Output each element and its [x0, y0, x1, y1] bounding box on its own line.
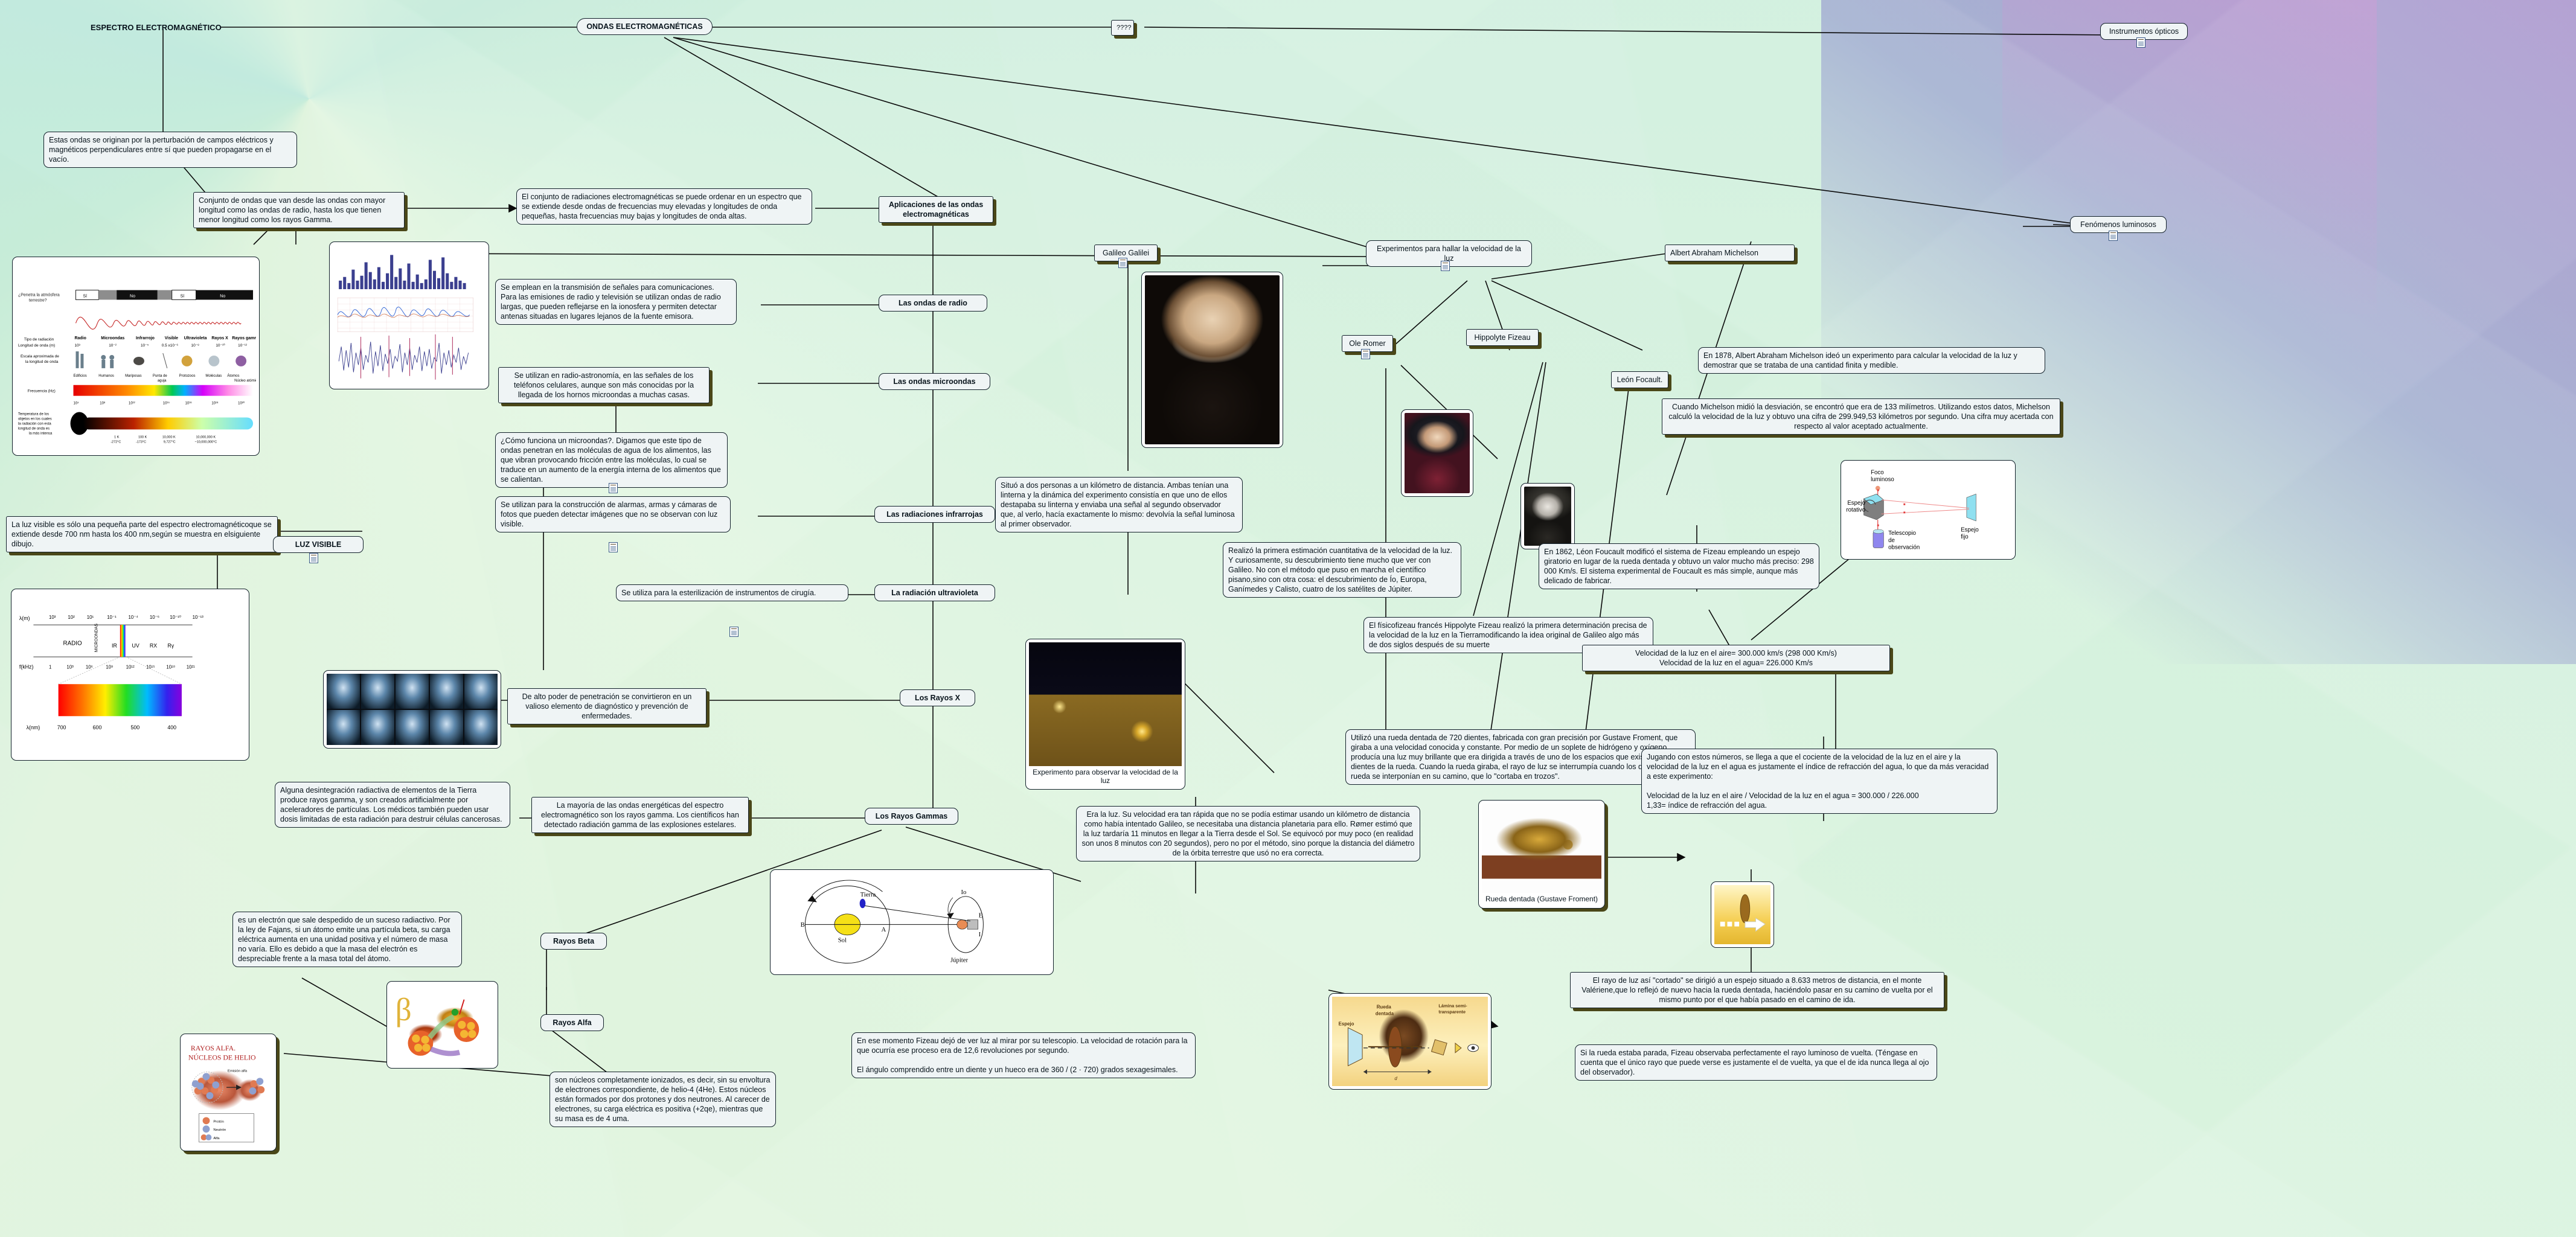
svg-text:transparente: transparente [1438, 1009, 1466, 1015]
node-ondas-radio[interactable]: Las ondas de radio [879, 295, 987, 312]
svg-text:600: 600 [93, 724, 102, 730]
svg-text:λ(m): λ(m) [19, 615, 30, 621]
svg-text:Júpiter: Júpiter [950, 956, 968, 964]
svg-text:Rayos X: Rayos X [211, 336, 228, 340]
svg-text:Temperatura de los: Temperatura de los [18, 413, 49, 417]
visible-spectrum-figure: λ(m) 10³10² 10¹10⁻¹ 10⁻⁴10⁻⁶ 10⁻¹⁰10⁻¹³ … [11, 589, 249, 761]
galileo-portrait [1141, 272, 1283, 448]
svg-text:10¹⁸: 10¹⁸ [211, 401, 219, 406]
svg-text:10¹⁸: 10¹⁸ [166, 665, 175, 670]
svg-text:IR: IR [112, 642, 117, 648]
node-gamma-text[interactable]: La mayoría de las ondas energéticas del … [531, 797, 749, 833]
node-luz-visible-text[interactable]: La luz visible es sólo una pequeña parte… [6, 516, 278, 552]
node-leon-focault[interactable]: León Focault. [1611, 371, 1668, 388]
node-fenomenos-luminosos[interactable]: Fenómenos luminosos [2070, 216, 2167, 233]
svg-text:10¹: 10¹ [87, 615, 94, 620]
svg-text:Sol: Sol [838, 936, 847, 944]
svg-text:Rγ: Rγ [167, 642, 174, 648]
svg-text:Espejo: Espejo [1847, 500, 1865, 507]
svg-text:10²¹: 10²¹ [187, 665, 195, 670]
node-michelson-text2[interactable]: Cuando Michelson midió la desviación, se… [1662, 398, 2060, 435]
svg-text:400: 400 [167, 724, 176, 730]
node-indice-refraccion[interactable]: Jugando con estos números, se llega a qu… [1641, 749, 1998, 814]
svg-text:Lámina semi-: Lámina semi- [1438, 1003, 1467, 1009]
svg-text:1: 1 [49, 665, 51, 670]
svg-text:fijo: fijo [1961, 534, 1968, 540]
node-espectro-orden[interactable]: El conjunto de radiaciones electromagnét… [516, 188, 812, 225]
image-note-icon[interactable] [609, 483, 618, 494]
galileo-exp-caption: Experimento para observar la velocidad d… [1029, 766, 1182, 785]
node-romer-text[interactable]: Realizó la primera estimación cuantitati… [1223, 542, 1461, 598]
node-origen[interactable]: Estas ondas se originan por la perturbac… [43, 132, 297, 168]
node-fizeau[interactable]: Hippolyte Fizeau [1466, 329, 1539, 346]
svg-text:Telescopio: Telescopio [1888, 530, 1916, 537]
root-node[interactable]: ONDAS ELECTROMAGNÉTICAS [577, 18, 713, 35]
node-beta-text[interactable]: es un electrón que sale despedido de un … [232, 912, 462, 967]
svg-text:Neutrón: Neutrón [213, 1128, 226, 1132]
svg-text:10⁹: 10⁹ [106, 665, 113, 670]
svg-text:No: No [130, 294, 135, 298]
svg-text:10³: 10³ [75, 344, 81, 348]
svg-text:I: I [979, 931, 981, 938]
svg-text:9,727°C: 9,727°C [164, 440, 176, 444]
node-rayos-gammas[interactable]: Los Rayos Gammas [865, 808, 958, 825]
svg-text:10⁶: 10⁶ [86, 665, 93, 670]
svg-text:Visible: Visible [165, 336, 178, 340]
svg-text:NÚCLEOS DE HELIO: NÚCLEOS DE HELIO [188, 1053, 256, 1062]
svg-text:10¹²: 10¹² [129, 402, 135, 406]
svg-text:10³: 10³ [49, 615, 56, 620]
svg-text:d: d [1394, 1076, 1397, 1081]
svg-text:Moléculas: Moléculas [205, 374, 222, 378]
svg-text:RAYOS ALFA.: RAYOS ALFA. [191, 1044, 235, 1052]
node-luz-visible[interactable]: LUZ VISIBLE [273, 536, 364, 553]
svg-text:¿Penetra la atmósfera: ¿Penetra la atmósfera [18, 293, 60, 298]
node-infrarrojas-text[interactable]: Se utilizan para la construcción de alar… [495, 496, 731, 532]
node-galileo-text[interactable]: Situó a dos personas a un kilómetro de d… [995, 477, 1243, 532]
svg-text:la más intensa: la más intensa [29, 432, 53, 435]
page-title: ESPECTRO ELECTROMAGNÉTICO [91, 23, 222, 32]
svg-text:RX: RX [150, 642, 157, 648]
svg-text:100 K: 100 K [138, 435, 147, 439]
node-gamma-text2[interactable]: Alguna desintegración radiactiva de elem… [275, 782, 510, 828]
node-aplicaciones[interactable]: Aplicaciones de las ondas electromagnéti… [879, 196, 993, 223]
svg-text:Rueda: Rueda [1377, 1005, 1392, 1010]
note-icon[interactable] [1361, 349, 1370, 360]
svg-text:10⁻⁵: 10⁻⁵ [141, 344, 149, 348]
svg-text:10²: 10² [68, 615, 75, 620]
michelson-diagram-figure: Focoluminoso Espejorotativo Telescopiode… [1841, 460, 2016, 560]
svg-text:Alfa: Alfa [213, 1137, 220, 1140]
radio-wave-figure [329, 241, 489, 389]
svg-text:Infrarrojo: Infrarrojo [136, 336, 155, 340]
svg-text:10⁸: 10⁸ [100, 401, 106, 406]
svg-text:Espejo: Espejo [1339, 1021, 1354, 1026]
node-ondas-radio-text[interactable]: Se emplean en la transmisión de señales … [495, 279, 737, 325]
node-focault-text[interactable]: En 1862, Léon Foucault modificó el siste… [1539, 543, 1819, 589]
svg-text:No: No [220, 294, 225, 298]
spectrum-chart-figure: ¿Penetra la atmósfera terrestre? Sí No S… [12, 257, 260, 456]
node-microondas-text[interactable]: Se utilizan en radio-astronomía, en las … [498, 367, 710, 403]
svg-text:Microondas: Microondas [101, 336, 124, 340]
fizeau-wheel-figure: Rueda dentada Lámina semi- transparente … [1328, 993, 1491, 1090]
svg-text:λ(nm): λ(nm) [27, 724, 40, 730]
beta-decay-figure: β [386, 981, 498, 1069]
svg-text:Foco: Foco [1871, 469, 1884, 476]
binoculars-icon[interactable] [2136, 37, 2145, 49]
froment-caption: Rueda dentada (Gustave Froment) [1482, 893, 1601, 903]
svg-text:10¹²: 10¹² [126, 665, 135, 670]
svg-text:10⁴: 10⁴ [74, 401, 80, 406]
node-rayos-x-text[interactable]: De alto poder de penetración se convirti… [507, 688, 706, 724]
svg-text:10⁻¹: 10⁻¹ [107, 615, 117, 620]
svg-text:terrestre?: terrestre? [29, 298, 47, 302]
svg-text:10⁻¹⁰: 10⁻¹⁰ [216, 344, 225, 348]
svg-text:dentada: dentada [1376, 1011, 1394, 1017]
node-michelson-text[interactable]: En 1878, Albert Abraham Michelson ideó u… [1698, 347, 2045, 374]
svg-text:~10,000,000°C: ~10,000,000°C [195, 440, 217, 444]
romer-portrait [1401, 409, 1473, 497]
svg-text:10¹⁵: 10¹⁵ [163, 401, 170, 406]
svg-text:Protozoos: Protozoos [179, 374, 196, 378]
svg-text:de: de [1888, 537, 1895, 544]
node-conjunto[interactable]: Conjunto de ondas que van desde las onda… [193, 192, 405, 228]
svg-text:Sí: Sí [83, 294, 87, 298]
galileo-experiment-figure: Experimento para observar la velocidad d… [1025, 639, 1185, 790]
svg-text:Escala aproximada de: Escala aproximada de [21, 354, 59, 359]
svg-text:MICROONDAS: MICROONDAS [94, 624, 98, 653]
svg-text:500: 500 [130, 724, 139, 730]
svg-text:10⁻¹⁰: 10⁻¹⁰ [170, 615, 181, 620]
node-rayos-beta[interactable]: Rayos Beta [540, 933, 607, 950]
svg-text:Núcleo atómico: Núcleo atómico [234, 379, 256, 383]
svg-text:Rayos gamma: Rayos gamma [232, 336, 256, 340]
node-rayos-alfa[interactable]: Rayos Alfa [540, 1014, 604, 1031]
svg-text:objetos en los cuales: objetos en los cuales [18, 417, 52, 421]
visible-chart-caption: Esta pequeña región del espectro es la l… [14, 757, 246, 761]
node-ultravioleta-text[interactable]: Se utiliza para la esterilización de ins… [616, 584, 848, 601]
node-infrarrojas[interactable]: Las radiaciones infrarrojas [874, 506, 995, 523]
wheel-arrow-icon-figure[interactable] [1711, 881, 1774, 948]
unknown-node[interactable]: ???? [1111, 20, 1134, 36]
note-icon[interactable] [729, 627, 739, 638]
svg-text:Longitud de onda (m): Longitud de onda (m) [18, 344, 55, 348]
svg-text:longitud de onda es: longitud de onda es [18, 427, 50, 430]
node-romer-text2[interactable]: Era la luz. Su velocidad era tan rápida … [1076, 806, 1420, 861]
svg-text:Humanos: Humanos [98, 374, 114, 378]
svg-text:f(kHz): f(kHz) [19, 664, 34, 670]
svg-text:10⁻⁴: 10⁻⁴ [129, 615, 138, 620]
svg-text:β: β [396, 992, 412, 1028]
svg-text:Tierra: Tierra [860, 891, 876, 898]
node-microondas[interactable]: Las ondas microondas [879, 373, 990, 390]
node-alfa-text[interactable]: son núcleos completamente ionizados, es … [549, 1072, 776, 1127]
note-icon[interactable] [609, 542, 618, 554]
svg-text:rotativo: rotativo [1846, 507, 1865, 513]
svg-text:Átomos: Átomos [227, 374, 239, 378]
node-michelson[interactable]: Albert Abraham Michelson [1665, 245, 1795, 261]
svg-text:la radiación con esta: la radiación con esta [18, 422, 51, 426]
focault-portrait [1520, 483, 1575, 549]
node-ultravioleta[interactable]: La radiación ultravioleta [874, 584, 995, 601]
svg-text:la longitud de onda: la longitud de onda [25, 360, 59, 364]
svg-text:10¹⁶: 10¹⁶ [185, 401, 193, 406]
svg-text:E: E [979, 912, 983, 919]
svg-text:10⁻¹³: 10⁻¹³ [193, 615, 203, 620]
xray-images-figure [323, 670, 501, 749]
alfa-figure: RAYOS ALFA. NÚCLEOS DE HELIO Emisión alf… [180, 1034, 277, 1151]
svg-text:Radio: Radio [75, 336, 86, 340]
node-microondas-text2[interactable]: ¿Cómo funciona un microondas?. Digamos q… [495, 432, 728, 488]
svg-text:A: A [882, 926, 886, 933]
binoculars-icon[interactable] [2109, 231, 2118, 242]
svg-text:Io: Io [961, 889, 967, 896]
svg-text:-272°C: -272°C [111, 440, 121, 444]
svg-text:aguja: aguja [158, 379, 167, 383]
spectrum-chart-caption: Es el rango de todas las radiaciones ele… [16, 452, 256, 456]
svg-text:10⁻²: 10⁻² [109, 344, 117, 348]
node-rayos-x[interactable]: Los Rayos X [900, 689, 975, 706]
node-velocidades[interactable]: Velocidad de la luz en el aire= 300.000 … [1582, 645, 1890, 671]
note-icon[interactable] [309, 553, 318, 564]
svg-text:UV: UV [132, 642, 139, 648]
svg-text:Edificios: Edificios [74, 374, 87, 378]
svg-text:Emisión alfa: Emisión alfa [228, 1069, 248, 1073]
jupiter-orbit-figure: Sol Tierra B A Io E I Júpiter [770, 869, 1054, 975]
svg-text:10⁻⁶: 10⁻⁶ [150, 615, 159, 620]
node-fizeau-text4[interactable]: El rayo de luz así "cortado" se dirigió … [1570, 972, 1944, 1008]
svg-text:10⁻⁸: 10⁻⁸ [191, 344, 200, 348]
svg-text:Ultravioleta: Ultravioleta [184, 336, 207, 340]
svg-text:Punta de: Punta de [153, 374, 168, 378]
svg-text:1 K: 1 K [114, 435, 120, 439]
svg-text:observación: observación [1888, 544, 1920, 551]
mindmap-canvas: ESPECTRO ELECTROMAGNÉTICO ONDAS ELECTROM… [0, 0, 2576, 1237]
note-icon[interactable] [1441, 261, 1450, 272]
note-icon[interactable] [1118, 258, 1127, 269]
froment-wheel-figure: Rueda dentada (Gustave Froment) [1478, 800, 1605, 909]
node-fizeau-text3[interactable]: En ese momento Fizeau dejó de ver luz al… [851, 1032, 1196, 1078]
node-fizeau-text5[interactable]: Si la rueda estaba parada, Fizeau observ… [1575, 1044, 1937, 1081]
svg-text:10,000 K: 10,000 K [162, 435, 176, 439]
svg-text:luminoso: luminoso [1871, 476, 1894, 483]
svg-text:10³: 10³ [66, 665, 74, 670]
svg-text:10²⁰: 10²⁰ [238, 401, 245, 406]
svg-text:B: B [801, 921, 805, 929]
svg-text:Espejo: Espejo [1961, 526, 1979, 533]
svg-text:10⁻¹²: 10⁻¹² [238, 344, 248, 348]
svg-text:Frecuencia (Hz): Frecuencia (Hz) [28, 389, 56, 394]
svg-text:Tipo de radiación: Tipo de radiación [24, 337, 54, 342]
svg-text:700: 700 [57, 724, 66, 730]
svg-text:10,000,000 K: 10,000,000 K [196, 435, 216, 439]
svg-text:Protón: Protón [213, 1120, 223, 1124]
svg-text:0.5 x10⁻⁶: 0.5 x10⁻⁶ [162, 344, 179, 348]
svg-text:-173°C: -173°C [136, 440, 146, 444]
svg-text:Mariposas: Mariposas [125, 374, 142, 378]
svg-text:Sí: Sí [181, 294, 185, 298]
svg-text:RADIO: RADIO [63, 640, 82, 647]
